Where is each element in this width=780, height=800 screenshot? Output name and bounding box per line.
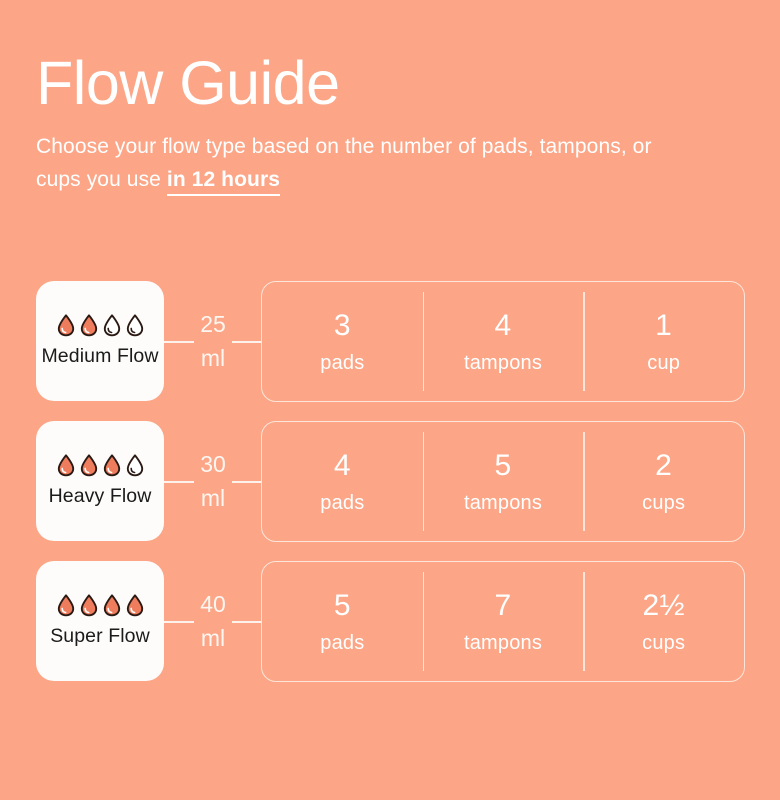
measure-cell[interactable]: 2½cups <box>583 562 744 681</box>
droplet-filled-icon <box>79 593 99 617</box>
droplet-filled-icon <box>102 593 122 617</box>
measure-count: 5 <box>495 447 512 485</box>
flow-type-card[interactable]: Medium Flow <box>36 281 164 401</box>
measure-count: 2 <box>655 447 672 485</box>
measures-panel: 5pads7tampons2½cups <box>261 561 745 682</box>
droplet-empty-icon <box>125 313 145 337</box>
measure-count: 2½ <box>643 587 685 625</box>
measure-unit: tampons <box>464 489 542 517</box>
droplet-rating <box>56 314 145 336</box>
measure-count: 5 <box>334 587 351 625</box>
droplet-filled-icon <box>56 313 76 337</box>
flow-row: Medium Flow25ml3pads4tampons1cup <box>0 281 780 402</box>
measure-cell[interactable]: 4tampons <box>423 282 584 401</box>
measure-count: 4 <box>334 447 351 485</box>
flow-type-label: Heavy Flow <box>49 485 152 508</box>
measure-unit: tampons <box>464 629 542 657</box>
measures-panel: 4pads5tampons2cups <box>261 421 745 542</box>
subtitle-text: Choose your flow type based on the numbe… <box>36 135 652 191</box>
flow-rows: Medium Flow25ml3pads4tampons1cupHeavy Fl… <box>0 281 780 682</box>
subtitle-emphasis: in 12 hours <box>167 168 280 196</box>
volume-unit: ml <box>194 341 232 375</box>
measure-unit: cup <box>647 349 680 377</box>
measure-unit: cups <box>642 629 685 657</box>
volume-label: 25ml <box>178 281 248 401</box>
header: Flow Guide Choose your flow type based o… <box>36 48 736 196</box>
measure-count: 3 <box>334 307 351 345</box>
volume-amount: 30 <box>193 447 233 481</box>
measure-cell[interactable]: 5pads <box>262 562 423 681</box>
flow-row: Heavy Flow30ml4pads5tampons2cups <box>0 421 780 542</box>
measures-panel: 3pads4tampons1cup <box>261 281 745 402</box>
droplet-empty-icon <box>125 453 145 477</box>
flow-type-card[interactable]: Heavy Flow <box>36 421 164 541</box>
page-title: Flow Guide <box>36 48 736 118</box>
measure-unit: pads <box>320 489 364 517</box>
measure-unit: cups <box>642 489 685 517</box>
droplet-empty-icon <box>102 313 122 337</box>
volume-label: 30ml <box>178 421 248 541</box>
volume-unit: ml <box>194 481 232 515</box>
droplet-rating <box>56 454 145 476</box>
droplet-filled-icon <box>79 453 99 477</box>
volume-amount: 25 <box>193 307 233 341</box>
measure-unit: pads <box>320 629 364 657</box>
measure-cell[interactable]: 3pads <box>262 282 423 401</box>
measure-unit: tampons <box>464 349 542 377</box>
flow-type-label: Super Flow <box>50 625 150 648</box>
flow-type-card[interactable]: Super Flow <box>36 561 164 681</box>
measure-cell[interactable]: 5tampons <box>423 422 584 541</box>
flow-row: Super Flow40ml5pads7tampons2½cups <box>0 561 780 682</box>
measure-count: 1 <box>655 307 672 345</box>
measure-cell[interactable]: 4pads <box>262 422 423 541</box>
measure-cell[interactable]: 7tampons <box>423 562 584 681</box>
page-subtitle: Choose your flow type based on the numbe… <box>36 130 696 196</box>
droplet-filled-icon <box>125 593 145 617</box>
droplet-filled-icon <box>79 313 99 337</box>
droplet-filled-icon <box>56 593 76 617</box>
droplet-rating <box>56 594 145 616</box>
droplet-filled-icon <box>102 453 122 477</box>
volume-label: 40ml <box>178 561 248 681</box>
flow-type-label: Medium Flow <box>41 345 158 368</box>
volume-amount: 40 <box>193 587 233 621</box>
flow-guide-page: Flow Guide Choose your flow type based o… <box>0 0 780 800</box>
droplet-filled-icon <box>56 453 76 477</box>
measure-count: 7 <box>495 587 512 625</box>
measure-unit: pads <box>320 349 364 377</box>
measure-cell[interactable]: 2cups <box>583 422 744 541</box>
measure-cell[interactable]: 1cup <box>583 282 744 401</box>
measure-count: 4 <box>495 307 512 345</box>
volume-unit: ml <box>194 621 232 655</box>
